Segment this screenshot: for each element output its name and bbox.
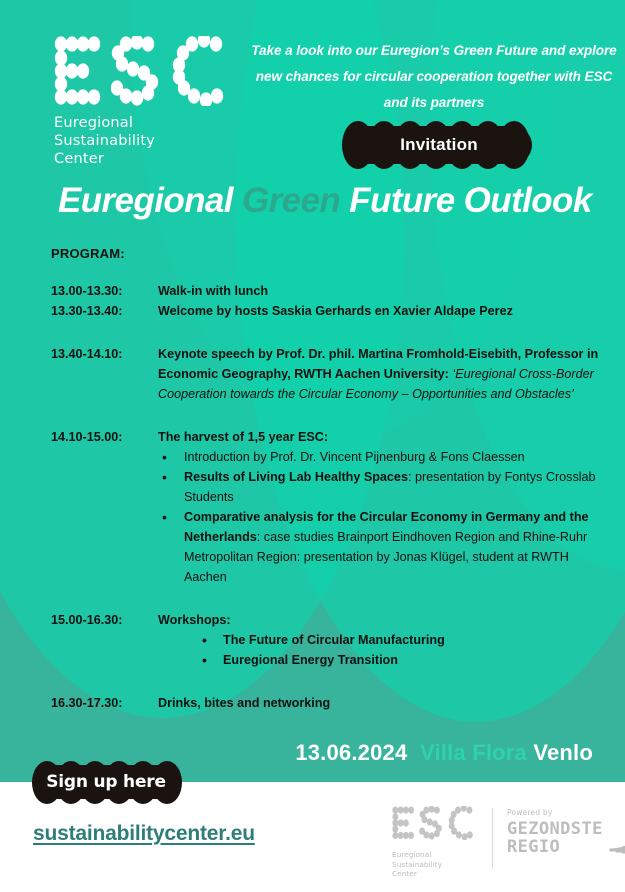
- esc-wordmark-line-1: Euregional: [54, 114, 234, 132]
- program-title: Walk-in with lunch: [158, 284, 268, 298]
- program-spacer: [51, 321, 613, 344]
- partner-logo-row: GEZONDSTE REGIO: [507, 820, 625, 856]
- esc-monogram-icon: [392, 806, 478, 840]
- program-row: 13.00-13.30: Walk-in with lunch: [51, 281, 613, 301]
- page-title: Euregional Green Future Outlook: [58, 181, 592, 221]
- page-title-part-3: Future Outlook: [340, 181, 592, 220]
- program-time: 15.00-16.30:: [51, 610, 158, 630]
- sign-up-button[interactable]: Sign up here: [32, 760, 180, 804]
- event-datebar: 13.06.2024 Villa Flora Venlo: [295, 740, 593, 766]
- poster-tagline: Take a look into our Euregion’s Green Fu…: [248, 38, 620, 116]
- partner-line-2: REGIO: [507, 838, 603, 856]
- partner-line-1: GEZONDSTE: [507, 820, 603, 838]
- esc-wordmark-line-3: Center: [54, 150, 234, 168]
- esc-wordmark-line-2: Sustainability: [54, 132, 234, 150]
- program-body: Drinks, bites and networking: [158, 693, 613, 713]
- program-body: Keynote speech by Prof. Dr. phil. Martin…: [158, 344, 613, 404]
- program-title: The harvest of 1,5 year ESC:: [158, 427, 613, 447]
- page-title-part-1: Euregional: [58, 181, 242, 220]
- invitation-badge: Invitation: [342, 120, 536, 170]
- esc-logo: Euregional Sustainability Center: [54, 36, 234, 168]
- list-item: Introduction by Prof. Dr. Vincent Pijnen…: [158, 447, 613, 467]
- invitation-badge-label: Invitation: [400, 135, 478, 155]
- program-time: 13.30-13.40:: [51, 301, 158, 321]
- program-spacer: [51, 404, 613, 427]
- program-bullet-list: Introduction by Prof. Dr. Vincent Pijnen…: [158, 447, 613, 587]
- program-spacer: [51, 670, 613, 693]
- workshop-bullet-list: The Future of Circular Manufacturing Eur…: [158, 630, 613, 670]
- poster-canvas: Euregional Sustainability Center Take a …: [0, 0, 625, 892]
- footer-esc-line-1: Euregional: [392, 850, 478, 860]
- footer-esc-wordmark: Euregional Sustainability Center: [392, 850, 478, 879]
- program-spacer: [51, 587, 613, 610]
- list-item: Comparative analysis for the Circular Ec…: [158, 507, 613, 587]
- program-title: Drinks, bites and networking: [158, 696, 330, 710]
- program-time: 13.40-14.10:: [51, 344, 158, 364]
- footer-esc-line-3: Center: [392, 869, 478, 879]
- logo-divider: [492, 808, 493, 869]
- esc-monogram-icon: [54, 36, 234, 106]
- sign-up-button-label: Sign up here: [46, 772, 166, 792]
- event-venue: Villa Flora: [420, 740, 527, 765]
- program-row: 13.30-13.40: Welcome by hosts Saskia Ger…: [51, 301, 613, 321]
- bullet-rest-part: Introduction by Prof. Dr. Vincent Pijnen…: [184, 450, 525, 464]
- program-body: Welcome by hosts Saskia Gerhards en Xavi…: [158, 301, 613, 321]
- list-item: The Future of Circular Manufacturing: [158, 630, 613, 650]
- partner-wordmark: GEZONDSTE REGIO: [507, 820, 603, 856]
- program-row: 15.00-16.30: Workshops: The Future of Ci…: [51, 610, 613, 670]
- program-heading: PROGRAM:: [51, 246, 125, 261]
- footer-partner-logo: Powered by GEZONDSTE REGIO: [507, 806, 625, 856]
- bullet-bold-part: Results of Living Lab Healthy Spaces: [184, 470, 408, 484]
- program-time: 13.00-13.30:: [51, 281, 158, 301]
- website-link[interactable]: sustainabilitycenter.eu: [33, 822, 255, 846]
- program-row: 13.40-14.10: Keynote speech by Prof. Dr.…: [51, 344, 613, 404]
- powered-by-label: Powered by: [507, 808, 625, 817]
- program-row: 16.30-17.30: Drinks, bites and networkin…: [51, 693, 613, 713]
- footer-logo-group: Euregional Sustainability Center Powered…: [392, 806, 625, 879]
- list-item: Euregional Energy Transition: [158, 650, 613, 670]
- program-time: 14.10-15.00:: [51, 427, 158, 447]
- program-body: Workshops: The Future of Circular Manufa…: [158, 610, 613, 670]
- program-body: Walk-in with lunch: [158, 281, 613, 301]
- program-title: Welcome by hosts Saskia Gerhards en Xavi…: [158, 304, 513, 318]
- program-row: 14.10-15.00: The harvest of 1,5 year ESC…: [51, 427, 613, 587]
- list-item: Results of Living Lab Healthy Spaces: pr…: [158, 467, 613, 507]
- event-city: Venlo: [533, 740, 593, 765]
- page-title-part-green: Green: [242, 181, 340, 220]
- program-time: 16.30-17.30:: [51, 693, 158, 713]
- program-title: Workshops:: [158, 610, 613, 630]
- swoosh-icon: [607, 821, 625, 855]
- spacer: [407, 740, 420, 765]
- footer-esc-line-2: Sustainability: [392, 860, 478, 870]
- footer-esc-logo: Euregional Sustainability Center: [392, 806, 478, 879]
- esc-logo-wordmark: Euregional Sustainability Center: [54, 114, 234, 168]
- program-body: The harvest of 1,5 year ESC: Introductio…: [158, 427, 613, 587]
- program-list: 13.00-13.30: Walk-in with lunch 13.30-13…: [51, 281, 613, 713]
- event-date: 13.06.2024: [295, 740, 407, 765]
